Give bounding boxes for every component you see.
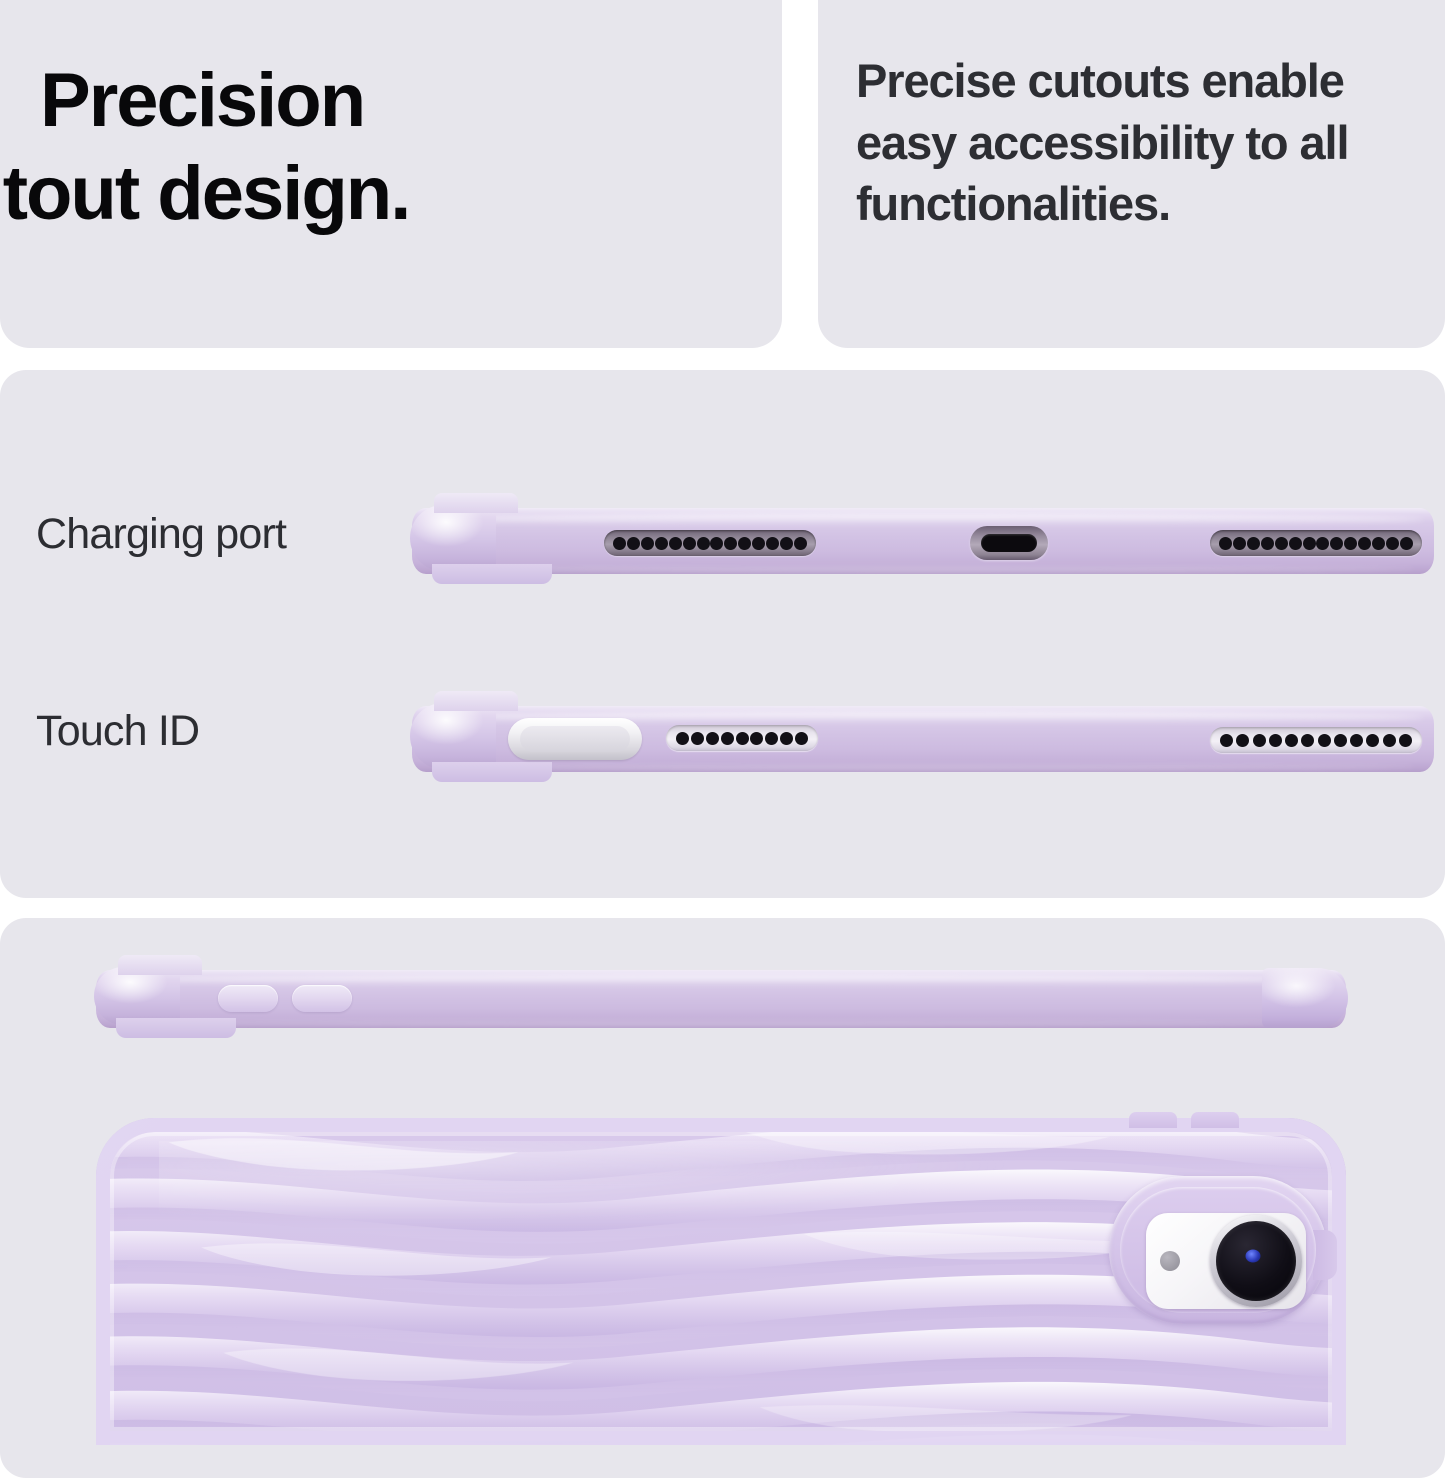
edge-gloss (432, 513, 1423, 526)
speaker-hole (1285, 734, 1298, 747)
edge-cap-left (410, 703, 496, 769)
speaker-hole (736, 732, 749, 745)
speaker-hole (1334, 734, 1347, 747)
speaker-hole (676, 732, 689, 745)
speaker-hole (627, 537, 640, 550)
speaker-grille-right (1210, 530, 1422, 556)
back-volume-button-1[interactable] (1129, 1112, 1177, 1128)
page-title: Precision cutout design. (40, 54, 770, 241)
edge-cap-right (1262, 968, 1348, 1028)
speaker-grille-left (666, 725, 818, 751)
cap-foot (432, 564, 552, 584)
cap-lip (434, 493, 518, 513)
speaker-hole (724, 537, 737, 550)
speaker-hole (1247, 537, 1260, 550)
product-feature-image: Precision cutout design. Precise cutouts… (0, 0, 1445, 1445)
edge-cap-left (410, 505, 496, 571)
cutouts-panel: Charging port Touch ID (0, 370, 1445, 898)
edge-gloss (121, 974, 1334, 986)
flash-icon (1160, 1251, 1180, 1271)
speaker-hole (1236, 734, 1249, 747)
speaker-hole (1316, 537, 1329, 550)
speaker-hole (1289, 537, 1302, 550)
touch-id-surface (520, 726, 630, 753)
speaker-hole (710, 537, 723, 550)
headline-line-1: Precision (40, 58, 364, 143)
speaker-hole (765, 732, 778, 745)
edge-underline (443, 763, 1414, 770)
speaker-hole (1318, 734, 1331, 747)
camera-module (1109, 1176, 1327, 1324)
speaker-hole (683, 537, 696, 550)
speaker-hole (750, 732, 763, 745)
speaker-hole (795, 732, 808, 745)
speaker-hole (669, 537, 682, 550)
speaker-hole (1219, 537, 1232, 550)
speaker-hole (1301, 734, 1314, 747)
speaker-hole (1220, 734, 1233, 747)
device-edge-charging-port (412, 508, 1434, 574)
speaker-hole (697, 537, 710, 550)
speaker-hole (706, 732, 719, 745)
camera-lens-glass (1216, 1221, 1296, 1301)
speaker-hole (655, 537, 668, 550)
camera-plate (1146, 1213, 1306, 1309)
speaker-grille-left (604, 530, 816, 556)
speaker-hole (1269, 734, 1282, 747)
speaker-hole (1383, 734, 1396, 747)
speaker-hole (1233, 537, 1246, 550)
speaker-hole (1386, 537, 1399, 550)
label-touch-id: Touch ID (36, 707, 199, 756)
speaker-hole (1366, 734, 1379, 747)
subcopy-text: Precise cutouts enable easy accessibilit… (856, 50, 1436, 235)
headline-panel: Precision cutout design. (0, 0, 782, 348)
subcopy-panel: Precise cutouts enable easy accessibilit… (818, 0, 1445, 348)
speaker-hole (1344, 537, 1357, 550)
edge-underline (134, 1020, 1322, 1026)
speaker-hole (1350, 734, 1363, 747)
camera-lens (1210, 1215, 1302, 1307)
case-side-notch (1313, 1230, 1337, 1280)
speaker-hole (1372, 537, 1385, 550)
speaker-hole (752, 537, 765, 550)
speaker-hole (780, 732, 793, 745)
cap-foot (116, 1018, 236, 1038)
speaker-hole (794, 537, 807, 550)
speaker-grille-right (1210, 727, 1422, 753)
volume-down-button[interactable] (292, 985, 352, 1012)
speaker-hole (1358, 537, 1371, 550)
speaker-hole (1400, 537, 1413, 550)
device-edge-touch-id (412, 706, 1434, 772)
label-charging-port: Charging port (36, 510, 286, 559)
speaker-hole (1253, 734, 1266, 747)
camera-lens-reflection (1245, 1250, 1260, 1263)
speaker-hole (1330, 537, 1343, 550)
speaker-hole (780, 537, 793, 550)
speaker-hole (766, 537, 779, 550)
cap-foot (432, 762, 552, 782)
edge-underline (443, 565, 1414, 572)
headline-line-2: cutout design. (0, 147, 770, 240)
speaker-hole (1303, 537, 1316, 550)
cap-lip (118, 955, 202, 975)
usb-c-port-opening (981, 534, 1037, 552)
device-side-profile (96, 970, 1346, 1028)
edge-cap-left (94, 967, 180, 1025)
camera-bezel (1120, 1187, 1316, 1313)
volume-up-button[interactable] (218, 985, 278, 1012)
usb-c-port (970, 526, 1048, 560)
speaker-hole (721, 732, 734, 745)
speaker-hole (738, 537, 751, 550)
speaker-hole (1275, 537, 1288, 550)
speaker-hole (1399, 734, 1412, 747)
speaker-hole (641, 537, 654, 550)
speaker-hole (691, 732, 704, 745)
back-volume-button-2[interactable] (1191, 1112, 1239, 1128)
speaker-hole (613, 537, 626, 550)
touch-id-button[interactable] (508, 718, 642, 760)
speaker-hole (1261, 537, 1274, 550)
cap-lip (434, 691, 518, 711)
